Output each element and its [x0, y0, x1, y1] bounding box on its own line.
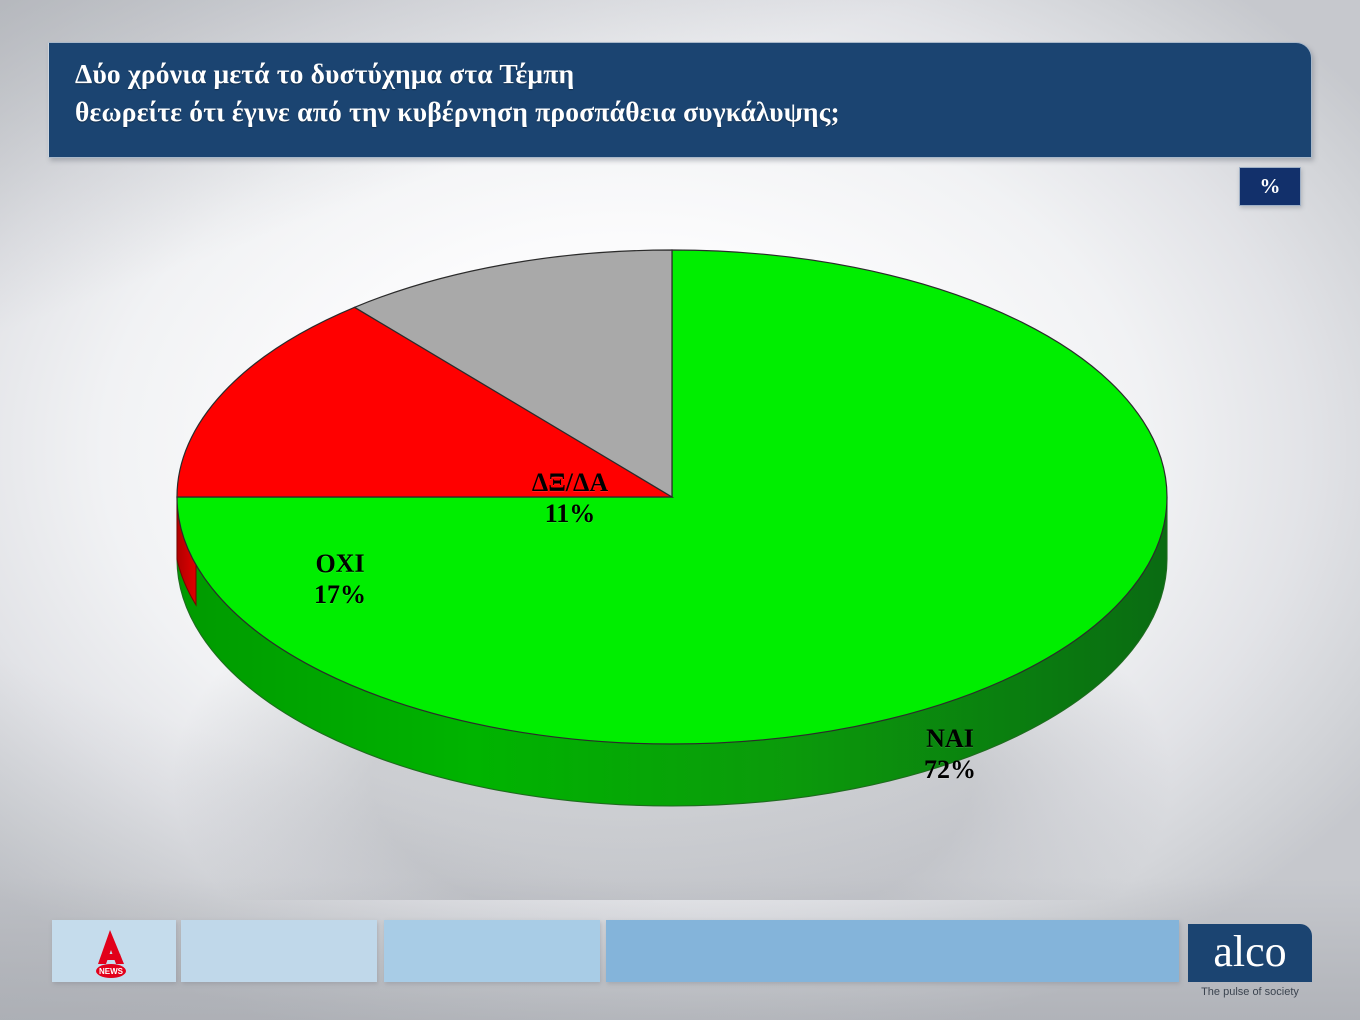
- alco-logo: alco: [1188, 924, 1312, 982]
- footer-bar-4: [606, 920, 1179, 982]
- pie-label-nai: ΝΑΙ 72%: [840, 723, 1060, 785]
- footer: NEWS alco The pulse of society: [0, 920, 1360, 1020]
- pie-label-oxi: ΟΧΙ 17%: [240, 548, 440, 610]
- title-bar: Δύο χρόνια μετά το δυστύχημα στα Τέμπη θ…: [48, 42, 1312, 158]
- page-title: Δύο χρόνια μετά το δυστύχημα στα Τέμπη θ…: [75, 55, 1299, 131]
- footer-bar-2: [181, 920, 377, 982]
- alco-tagline: The pulse of society: [1188, 986, 1312, 998]
- pie-label-dda: ΔΞ/ΔΑ 11%: [455, 467, 685, 529]
- alco-wordmark: alco: [1213, 930, 1286, 974]
- pie-chart-svg: [0, 180, 1360, 900]
- pie-chart: ΝΑΙ 72% ΟΧΙ 17% ΔΞ/ΔΑ 11%: [0, 180, 1360, 900]
- alpha-news-logo: NEWS: [80, 928, 142, 978]
- alpha-news-word: NEWS: [99, 967, 124, 976]
- footer-bar-3: [384, 920, 600, 982]
